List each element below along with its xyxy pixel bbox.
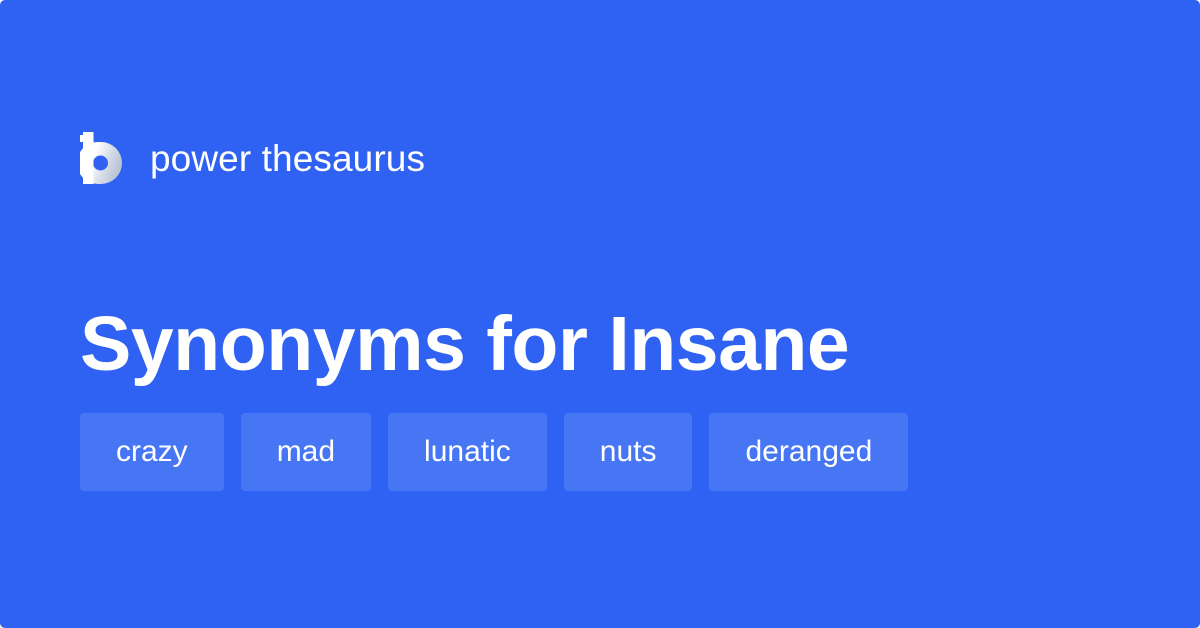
brand-lockup[interactable]: power thesaurus xyxy=(80,128,425,188)
synonym-chip[interactable]: lunatic xyxy=(388,413,547,491)
synonyms-share-card: power thesaurus Synonyms for Insane craz… xyxy=(0,0,1200,628)
brand-name: power thesaurus xyxy=(150,140,425,177)
synonym-chip-list: crazy mad lunatic nuts deranged xyxy=(80,413,1120,491)
synonym-chip[interactable]: crazy xyxy=(80,413,224,491)
page-title: Synonyms for Insane xyxy=(80,298,1140,390)
synonym-chip[interactable]: nuts xyxy=(564,413,693,491)
power-thesaurus-b-logo-icon xyxy=(80,132,122,184)
synonym-chip[interactable]: mad xyxy=(241,413,371,491)
synonym-chip[interactable]: deranged xyxy=(709,413,908,491)
